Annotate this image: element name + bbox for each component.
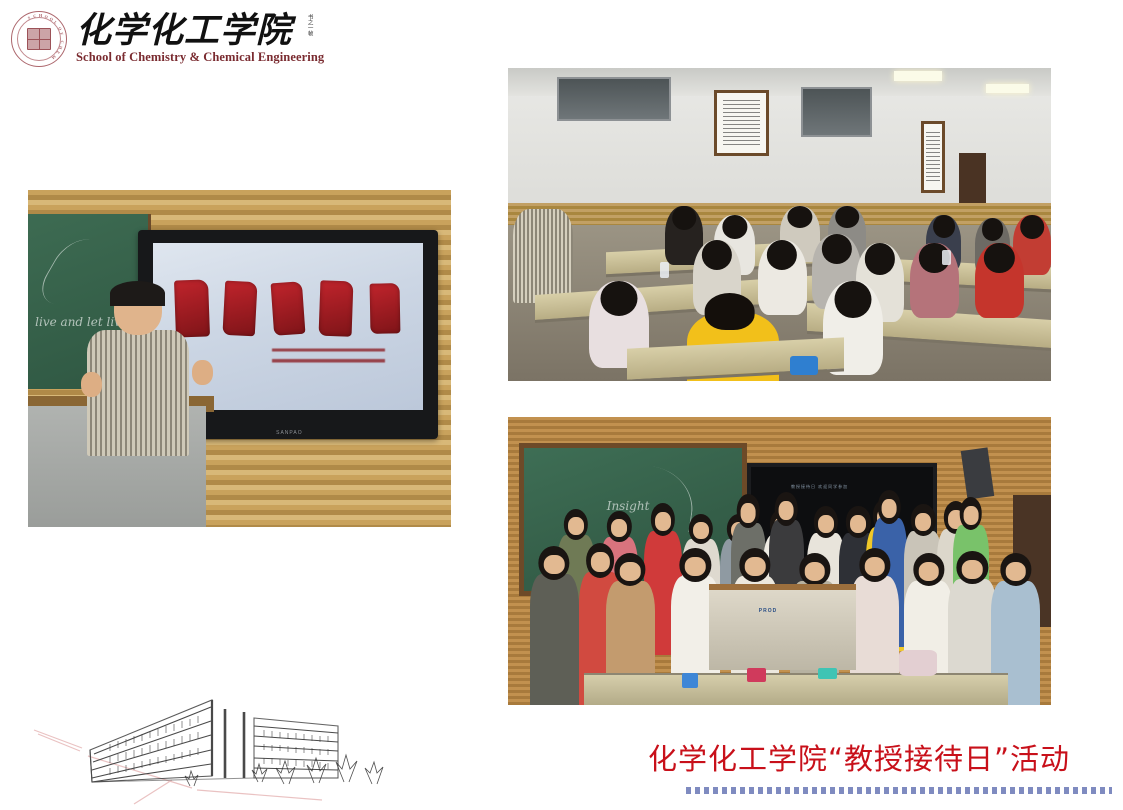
student-figure: [910, 243, 959, 318]
institution-name-en: School of Chemistry & Chemical Engineeri…: [76, 50, 324, 65]
classroom-window: [557, 77, 671, 121]
student-figure: [530, 574, 579, 705]
desk-item: [747, 668, 766, 682]
professor-hair: [110, 281, 165, 306]
professor-glasses-icon: [116, 305, 160, 313]
stamp-text: 书之一帧: [306, 14, 313, 36]
ceiling-lamp: [986, 84, 1029, 93]
student-figure: [758, 240, 807, 315]
lectern-label: PROD: [759, 608, 777, 614]
classroom-audience-photo: [508, 68, 1051, 381]
ceiling-lamp: [894, 71, 943, 80]
group-photo: Insight 教授接待日 欢迎同学参加 PROD: [508, 417, 1051, 705]
projection-screen: [153, 243, 423, 410]
wall-calligraphy-frame: [921, 121, 945, 193]
logo-text-block: 化学化工学院 School of Chemistry & Chemical En…: [76, 13, 324, 66]
student-figure: [975, 243, 1024, 318]
wall-calligraphy-frame: [714, 90, 768, 156]
professor-left-hand: [81, 372, 102, 397]
screen-note-text: 教授接待日 欢迎同学参加: [791, 484, 848, 490]
professor-figure: [513, 209, 573, 303]
institution-name-cn: 化学化工学院: [76, 13, 324, 50]
lectern: PROD: [709, 584, 856, 670]
university-seal-icon: S C H O O L O F C H E M: [8, 8, 70, 70]
professor-lecture-photo: live and let live SANPAO: [28, 190, 451, 527]
backpack: [790, 356, 817, 375]
slide-subtitle-lines: [272, 343, 386, 370]
header-logo: S C H O O L O F C H E M 化学化工学院 School of…: [8, 4, 348, 74]
seal-core-glyphs: [27, 28, 51, 50]
handbag: [899, 650, 937, 676]
water-bottle: [660, 262, 669, 278]
campus-building-sketch: [22, 678, 402, 805]
water-bottle: [942, 250, 951, 266]
slide-title: 化学化工学院“教授接待日”活动: [648, 740, 1048, 778]
desk-item: [818, 668, 837, 680]
slide-calligraphy-title: [175, 280, 402, 337]
calligraphy-stamp-icon: 书之一帧: [306, 14, 320, 42]
dotted-rule: [686, 787, 1112, 794]
professor-figure: [83, 284, 193, 453]
screen-brand-label: SANPAO: [276, 430, 302, 436]
professor-right-hand: [192, 360, 213, 385]
professor-shirt: [87, 330, 188, 456]
classroom-window: [801, 87, 872, 137]
desk-item: [682, 673, 698, 687]
front-desk: [584, 673, 1008, 705]
